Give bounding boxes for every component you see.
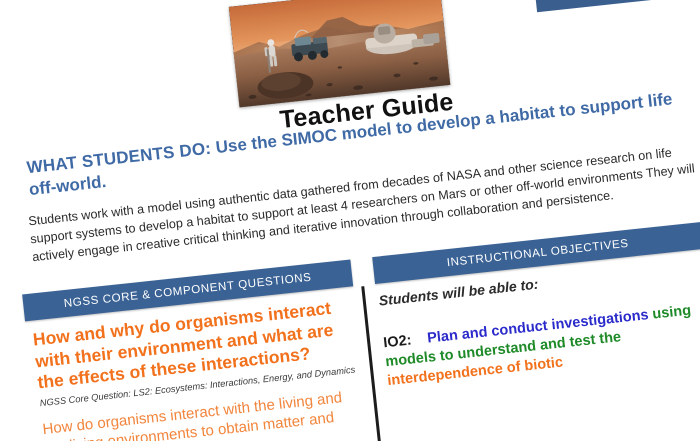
objective-number: IO2: [383,332,413,351]
document-page: Teacher Guide WHAT STUDENTS DO: Use the … [0,0,700,441]
what-students-do-label: WHAT STUDENTS DO: [26,139,212,178]
screenshot-canvas: Teacher Guide WHAT STUDENTS DO: Use the … [0,0,700,441]
objective-spacer [412,343,428,345]
top-right-blue-band [531,0,700,12]
objective-item: IO2:Plan and conduct investigations usin… [382,301,700,392]
